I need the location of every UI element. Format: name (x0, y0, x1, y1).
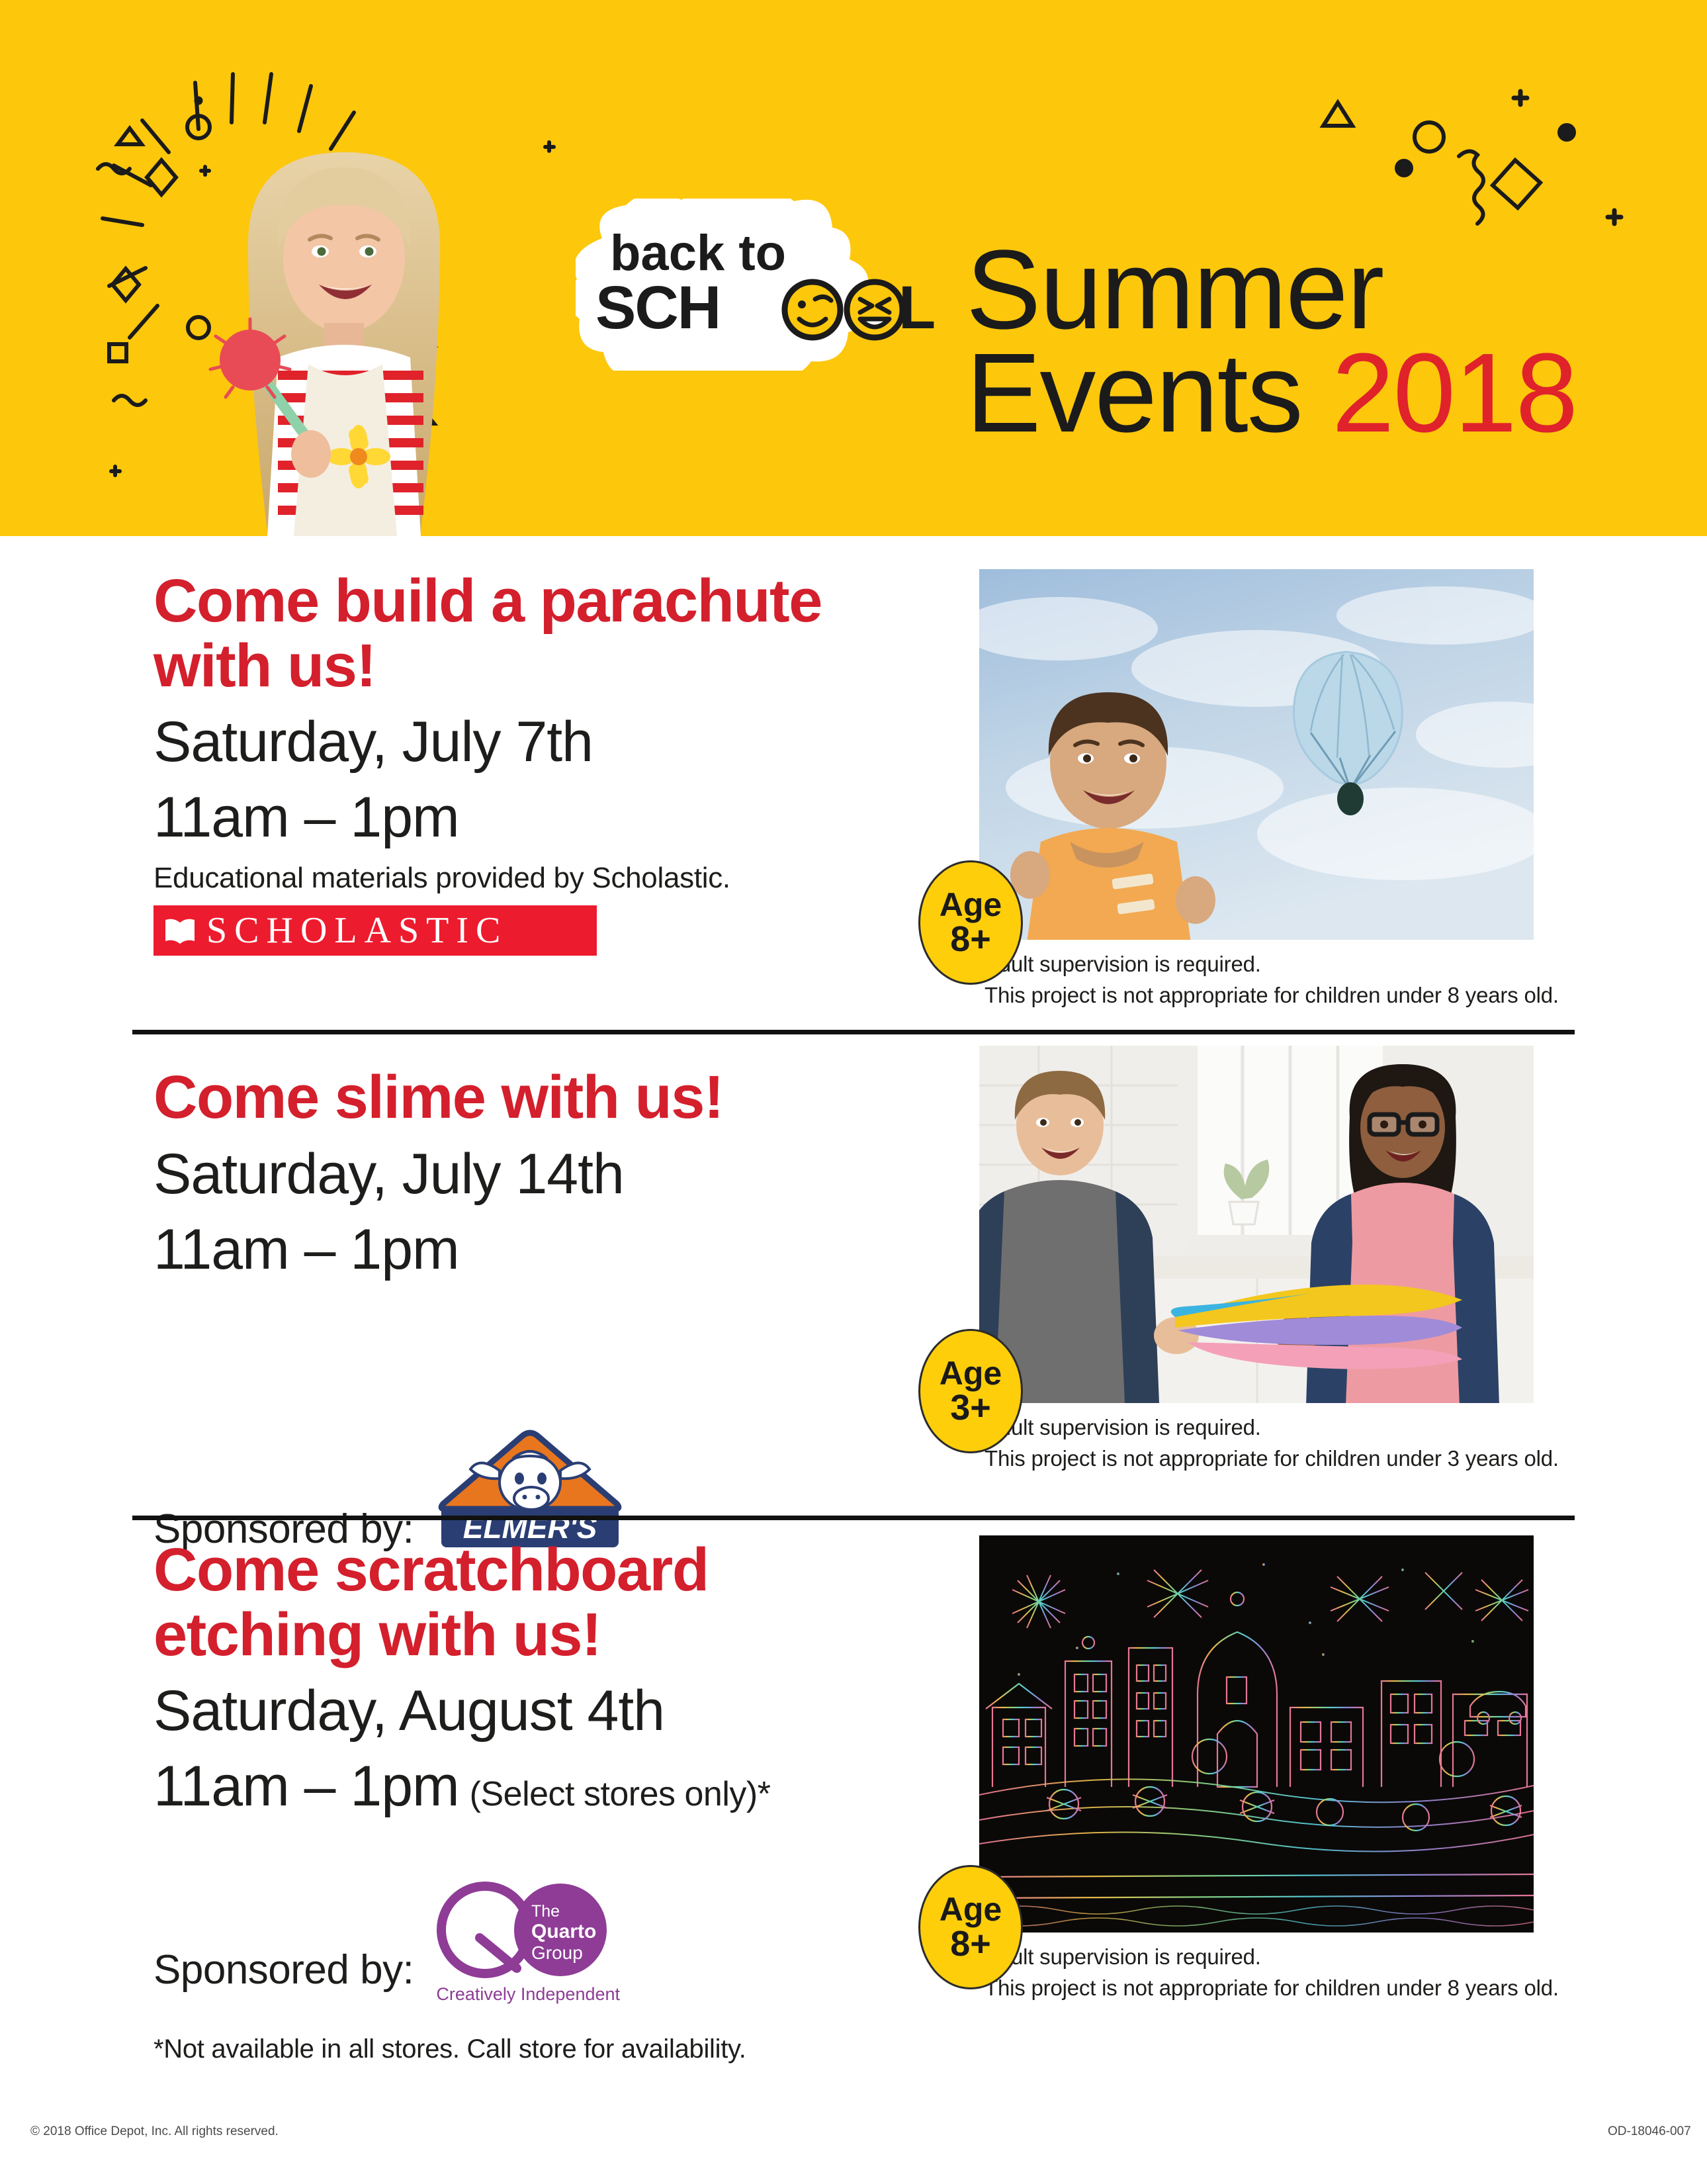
job-code: OD-18046-007 (1608, 2124, 1691, 2139)
event-3-date: Saturday, August 4th (153, 1679, 914, 1743)
event-2-media-column: Age 3+ Adult supervision is required. Th… (979, 1046, 1561, 1475)
event-1-disclaimer: Adult supervision is required. This proj… (985, 949, 1561, 1011)
event-2-text-column: Come slime with us! Saturday, July 14th … (153, 1066, 914, 1553)
event-1-disclaimer-line2: This project is not appropriate for chil… (985, 980, 1561, 1011)
quarto-group-logo: The Quarto Group Creatively Independent (431, 1868, 616, 1993)
age-badge-3: Age 8+ (918, 1865, 1023, 1989)
title-year: 2018 (1332, 330, 1577, 456)
event-section-slime: Come slime with us! Saturday, July 14th … (0, 1046, 1707, 1509)
event-section-scratchboard: Come scratchboard etching with us! Satur… (0, 1522, 1707, 2052)
event-3-time-row: 11am – 1pm (Select stores only)* (153, 1754, 914, 1818)
parachute-photo (979, 569, 1534, 940)
event-3-time-note: (Select stores only)* (470, 1775, 771, 1813)
scratchboard-photo (979, 1535, 1534, 1933)
poster-page: back to SCH L Summer Events 2018 (0, 0, 1707, 2184)
event-3-title: Come scratchboard etching with us! (153, 1538, 914, 1667)
quarto-tagline: Creatively Independent (436, 1984, 620, 2005)
poster-footer: © 2018 Office Depot, Inc. All rights res… (0, 2124, 1707, 2164)
title-line-events: Events (966, 330, 1302, 456)
event-3-sponsor-row: Sponsored by: The Quarto Group Creativel… (153, 1868, 914, 1993)
bts-line1: back to (610, 225, 786, 281)
event-3-media-column: Age 8+ Adult supervision is required. Th… (979, 1535, 1561, 2004)
event-3-disclaimer: Adult supervision is required. This proj… (985, 1942, 1561, 2004)
quarto-the: The (531, 1902, 560, 1921)
event-1-text-column: Come build a parachute with us! Saturday… (153, 569, 914, 956)
event-1-time: 11am – 1pm (153, 786, 914, 849)
age-badge-3-label: Age (940, 1893, 1002, 1926)
age-badge-1-label: Age (940, 888, 1002, 921)
event-3-text-column: Come scratchboard etching with us! Satur… (153, 1538, 914, 2064)
age-badge-2-label: Age (940, 1357, 1002, 1390)
age-badge-1-value: 8+ (950, 921, 991, 957)
page-title: Summer Events 2018 (966, 238, 1577, 445)
event-2-disclaimer-line1: Adult supervision is required. (985, 1412, 1561, 1443)
back-to-school-logo: back to SCH L (576, 199, 959, 371)
event-1-subnote: Educational materials provided by Schola… (153, 862, 914, 895)
title-line-summer: Summer (966, 238, 1577, 341)
event-1-title: Come build a parachute with us! (153, 569, 914, 698)
event-3-disclaimer-line2: This project is not appropriate for chil… (985, 1973, 1561, 2004)
scholastic-logo: SCHOLASTIC (153, 905, 597, 956)
event-3-disclaimer-line1: Adult supervision is required. (985, 1942, 1561, 1973)
event-3-availability-note: *Not available in all stores. Call store… (153, 2034, 914, 2064)
age-badge-2: Age 3+ (918, 1329, 1023, 1453)
section-divider-1 (132, 1030, 1575, 1034)
event-2-disclaimer: Adult supervision is required. This proj… (985, 1412, 1561, 1475)
event-3-time: 11am – 1pm (153, 1754, 459, 1818)
age-badge-1: Age 8+ (918, 860, 1023, 985)
open-book-icon (163, 916, 197, 945)
poster-header: back to SCH L Summer Events 2018 (0, 0, 1707, 536)
event-2-time: 11am – 1pm (153, 1218, 914, 1281)
event-2-disclaimer-line2: This project is not appropriate for chil… (985, 1443, 1561, 1475)
quarto-quarto: Quarto (531, 1921, 596, 1942)
svg-text:L: L (898, 274, 936, 341)
girl-with-lollipop-photo (179, 86, 509, 536)
copyright-text: © 2018 Office Depot, Inc. All rights res… (30, 2124, 279, 2139)
event-1-media-column: Age 8+ Adult supervision is required. Th… (979, 569, 1561, 1011)
section-divider-2 (132, 1516, 1575, 1520)
scholastic-wordmark: SCHOLASTIC (206, 912, 507, 949)
event-1-disclaimer-line1: Adult supervision is required. (985, 949, 1561, 980)
quarto-group: Group (531, 1942, 583, 1963)
event-2-date: Saturday, July 14th (153, 1142, 914, 1206)
event-2-title: Come slime with us! (153, 1066, 914, 1130)
svg-text:SCH: SCH (595, 274, 720, 341)
event-section-parachute: Come build a parachute with us! Saturday… (0, 569, 1707, 1032)
slime-photo (979, 1046, 1534, 1403)
age-badge-2-value: 3+ (950, 1390, 991, 1426)
age-badge-3-value: 8+ (950, 1926, 991, 1962)
event-3-sponsored-label: Sponsored by: (153, 1946, 414, 1993)
event-1-date: Saturday, July 7th (153, 710, 914, 774)
